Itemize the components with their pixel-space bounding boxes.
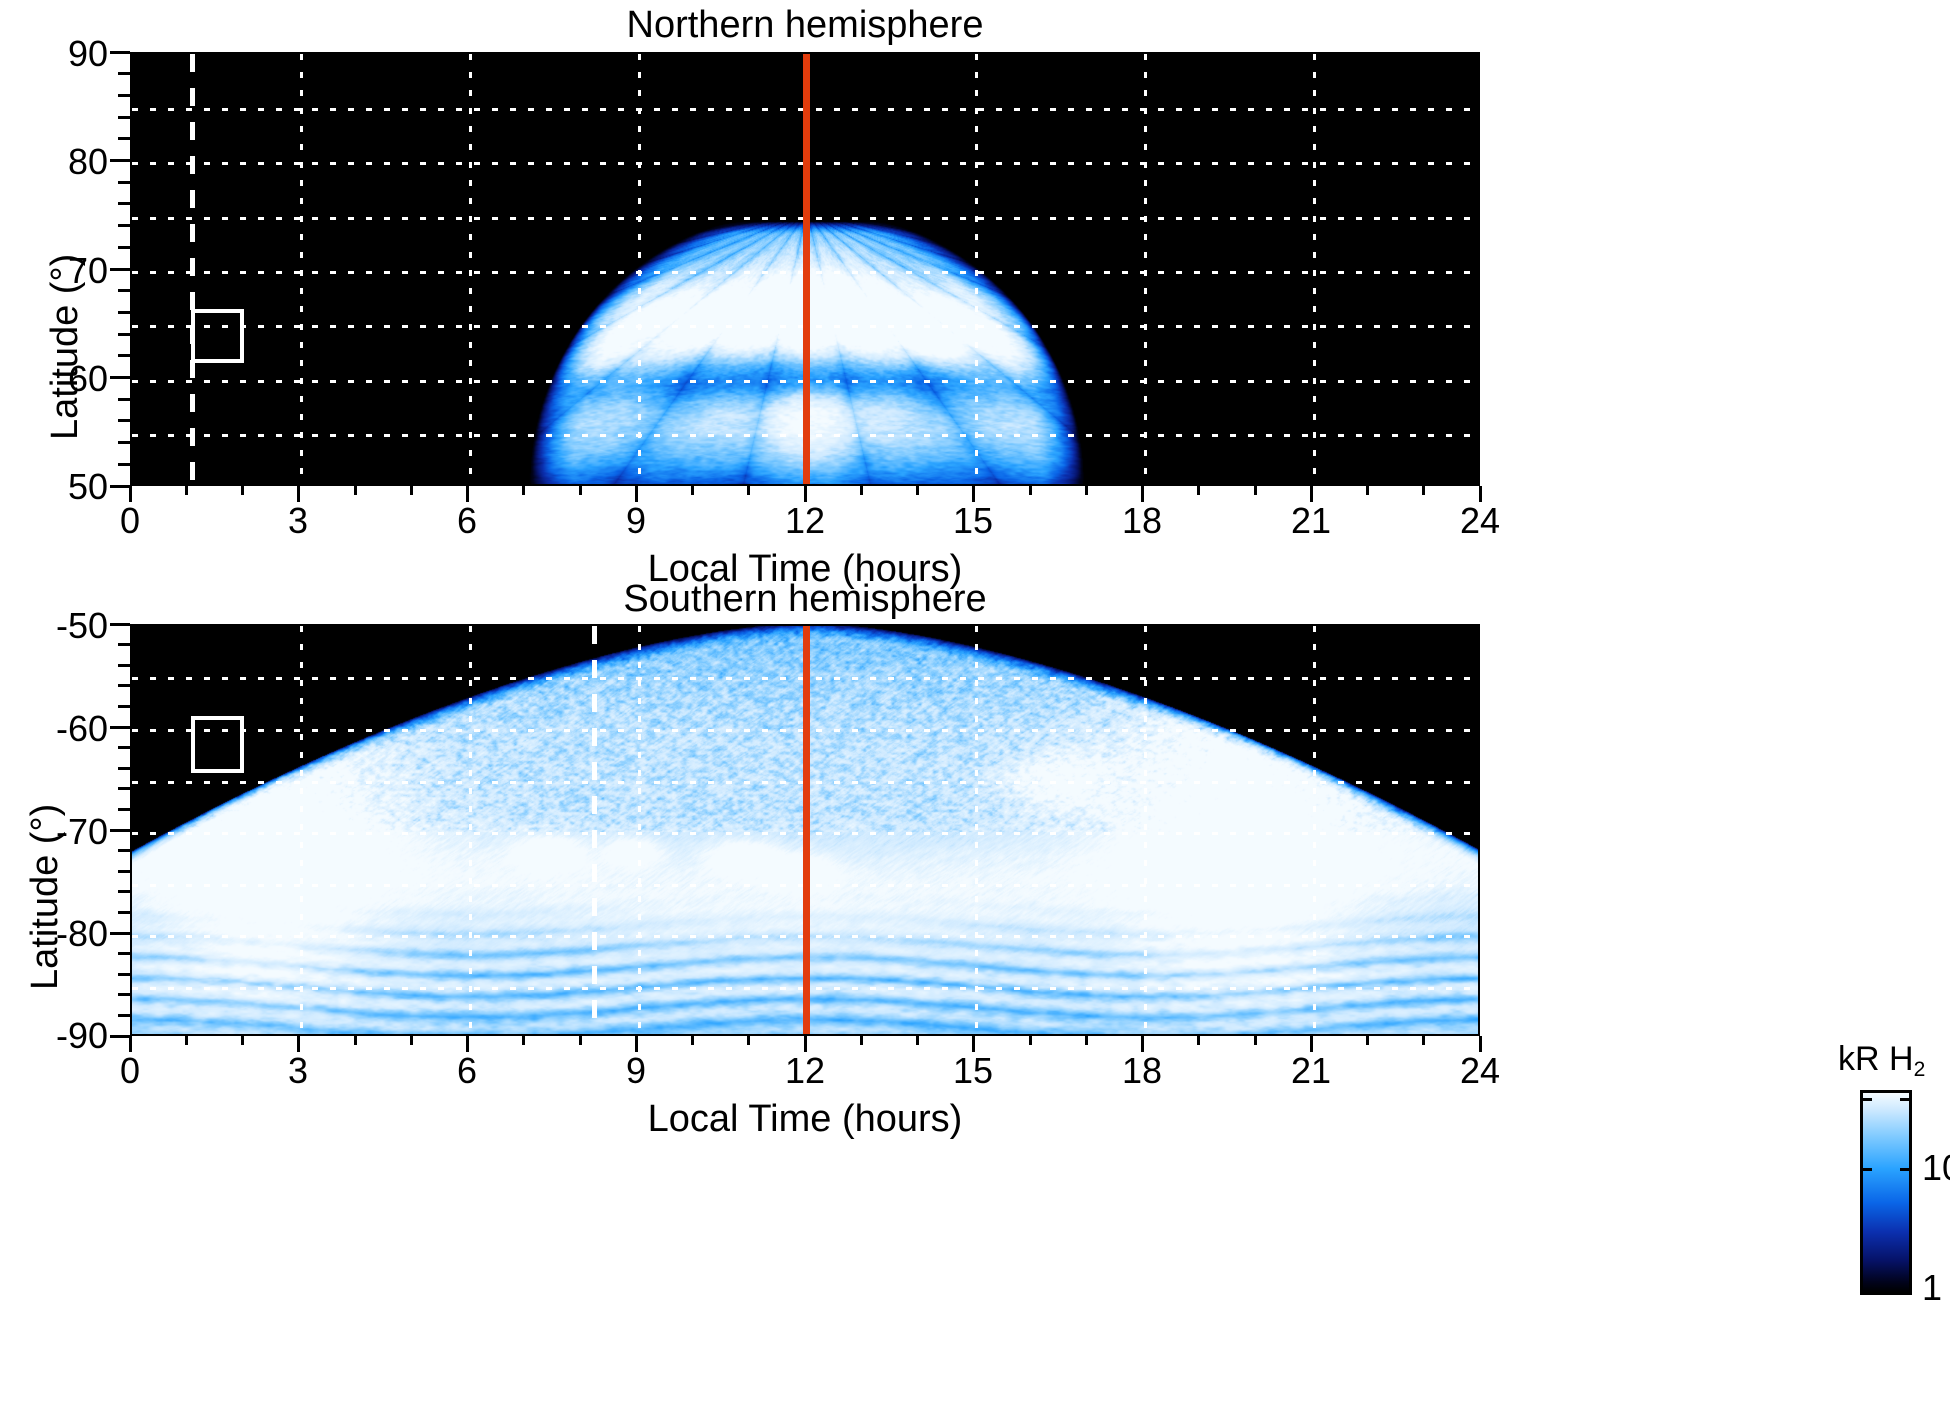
- xtick-major: [466, 486, 469, 502]
- ytick-label: 50: [30, 466, 108, 508]
- ytick-minor: [118, 787, 130, 790]
- southern-heatmap-image: [132, 626, 1478, 1034]
- figure-root: Northern hemisphere 90 80 70: [0, 0, 1950, 1423]
- northern-yaxis-title: Latitude (°): [44, 254, 87, 440]
- ytick-label: 90: [30, 33, 108, 75]
- xtick-label: 24: [1460, 500, 1500, 542]
- xtick-minor: [354, 1036, 357, 1045]
- colorbar-tick: [1900, 1168, 1912, 1171]
- xtick-major: [129, 486, 132, 502]
- southern-heatmap-canvas: [132, 626, 1478, 1034]
- xtick-minor: [860, 1036, 863, 1045]
- xtick-label: 6: [457, 500, 477, 542]
- colorbar-title-text: kR H: [1838, 1040, 1914, 1078]
- ytick-minor: [118, 181, 130, 184]
- northern-heatmap-image: [132, 54, 1478, 484]
- ytick-minor: [118, 94, 130, 97]
- xtick-minor: [1254, 1036, 1257, 1045]
- xtick-major: [466, 1036, 469, 1052]
- ytick-minor: [118, 952, 130, 955]
- xtick-minor: [916, 1036, 919, 1045]
- ytick-minor: [118, 767, 130, 770]
- ytick-minor: [118, 705, 130, 708]
- xtick-major: [635, 1036, 638, 1052]
- xtick-major: [1479, 486, 1482, 502]
- southern-plot-area: [130, 624, 1480, 1036]
- ytick-minor: [118, 354, 130, 357]
- ytick-label: 80: [30, 141, 108, 183]
- ytick-minor: [118, 993, 130, 996]
- xtick-major: [972, 1036, 975, 1052]
- xtick-label: 0: [120, 500, 140, 542]
- ytick-major: [110, 726, 130, 729]
- ytick-major: [110, 268, 130, 271]
- xtick-minor: [1422, 486, 1425, 495]
- ytick-minor: [118, 202, 130, 205]
- ytick-minor: [118, 72, 130, 75]
- northern-plot-area: [130, 52, 1480, 486]
- xtick-label: 12: [785, 1050, 825, 1092]
- southern-panel-title: Southern hemisphere: [130, 578, 1480, 621]
- ytick-minor: [118, 333, 130, 336]
- ytick-minor: [118, 116, 130, 119]
- colorbar: [1860, 1090, 1912, 1295]
- xtick-label: 18: [1122, 1050, 1162, 1092]
- xtick-major: [1141, 1036, 1144, 1052]
- xtick-label: 21: [1291, 1050, 1331, 1092]
- xtick-major: [804, 1036, 807, 1052]
- ytick-label: -50: [10, 605, 108, 647]
- xtick-minor: [241, 1036, 244, 1045]
- ytick-minor: [118, 441, 130, 444]
- xtick-label: 15: [953, 500, 993, 542]
- colorbar-title-subscript: 2: [1914, 1058, 1926, 1081]
- xtick-minor: [1254, 486, 1257, 495]
- xtick-label: 3: [288, 1050, 308, 1092]
- xtick-label: 0: [120, 1050, 140, 1092]
- ytick-minor: [118, 419, 130, 422]
- ytick-minor: [118, 684, 130, 687]
- ytick-major: [110, 1035, 130, 1038]
- ytick-minor: [118, 911, 130, 914]
- xtick-major: [297, 486, 300, 502]
- xtick-minor: [354, 486, 357, 495]
- ytick-minor: [118, 224, 130, 227]
- xtick-label: 9: [626, 1050, 646, 1092]
- xtick-major: [1479, 1036, 1482, 1052]
- xtick-minor: [691, 486, 694, 495]
- ytick-major: [110, 829, 130, 832]
- xtick-minor: [1029, 1036, 1032, 1045]
- colorbar-tick-label-1: 1: [1922, 1267, 1942, 1309]
- xtick-minor: [1422, 1036, 1425, 1045]
- xtick-minor: [1085, 486, 1088, 495]
- ytick-minor: [118, 463, 130, 466]
- xtick-minor: [579, 1036, 582, 1045]
- xtick-minor: [1366, 1036, 1369, 1045]
- ytick-minor: [118, 664, 130, 667]
- ytick-label: -90: [10, 1015, 108, 1057]
- colorbar-tick: [1860, 1168, 1872, 1171]
- xtick-minor: [410, 486, 413, 495]
- xtick-label: 9: [626, 500, 646, 542]
- ytick-minor: [118, 137, 130, 140]
- ytick-major: [110, 159, 130, 162]
- xtick-minor: [860, 486, 863, 495]
- xtick-label: 24: [1460, 1050, 1500, 1092]
- xtick-major: [635, 486, 638, 502]
- xtick-minor: [185, 1036, 188, 1045]
- colorbar-tick: [1900, 1098, 1912, 1101]
- xtick-minor: [241, 486, 244, 495]
- ytick-label: -60: [10, 708, 108, 750]
- ytick-minor: [118, 746, 130, 749]
- xtick-minor: [522, 1036, 525, 1045]
- ytick-minor: [118, 398, 130, 401]
- ytick-minor: [118, 973, 130, 976]
- xtick-minor: [1197, 1036, 1200, 1045]
- xtick-major: [1310, 1036, 1313, 1052]
- xtick-minor: [747, 486, 750, 495]
- colorbar-tick-label-10: 10: [1922, 1147, 1950, 1189]
- ytick-minor: [118, 311, 130, 314]
- southern-xaxis-title: Local Time (hours): [130, 1098, 1480, 1141]
- ytick-major: [110, 376, 130, 379]
- ytick-minor: [118, 849, 130, 852]
- xtick-label: 12: [785, 500, 825, 542]
- ytick-major: [110, 623, 130, 626]
- ytick-minor: [118, 643, 130, 646]
- ytick-major: [110, 51, 130, 54]
- xtick-minor: [522, 486, 525, 495]
- xtick-minor: [579, 486, 582, 495]
- ytick-minor: [118, 1014, 130, 1017]
- ytick-major: [110, 932, 130, 935]
- xtick-minor: [185, 486, 188, 495]
- xtick-minor: [747, 1036, 750, 1045]
- xtick-minor: [691, 1036, 694, 1045]
- xtick-major: [1310, 486, 1313, 502]
- southern-yaxis-title: Latitude (°): [24, 804, 67, 990]
- xtick-minor: [916, 486, 919, 495]
- xtick-minor: [1197, 486, 1200, 495]
- ytick-minor: [118, 890, 130, 893]
- xtick-major: [804, 486, 807, 502]
- ytick-minor: [118, 246, 130, 249]
- xtick-label: 15: [953, 1050, 993, 1092]
- xtick-label: 18: [1122, 500, 1162, 542]
- xtick-major: [129, 1036, 132, 1052]
- northern-heatmap-canvas: [132, 54, 1478, 484]
- xtick-label: 21: [1291, 500, 1331, 542]
- northern-panel-title: Northern hemisphere: [130, 4, 1480, 47]
- xtick-minor: [1366, 486, 1369, 495]
- xtick-major: [972, 486, 975, 502]
- colorbar-title: kR H2: [1838, 1040, 1925, 1079]
- colorbar-tick: [1860, 1098, 1872, 1101]
- ytick-minor: [118, 870, 130, 873]
- ytick-minor: [118, 808, 130, 811]
- xtick-major: [297, 1036, 300, 1052]
- xtick-label: 3: [288, 500, 308, 542]
- xtick-minor: [1029, 486, 1032, 495]
- ytick-minor: [118, 289, 130, 292]
- xtick-minor: [1085, 1036, 1088, 1045]
- xtick-minor: [410, 1036, 413, 1045]
- ytick-major: [110, 485, 130, 488]
- xtick-major: [1141, 486, 1144, 502]
- xtick-label: 6: [457, 1050, 477, 1092]
